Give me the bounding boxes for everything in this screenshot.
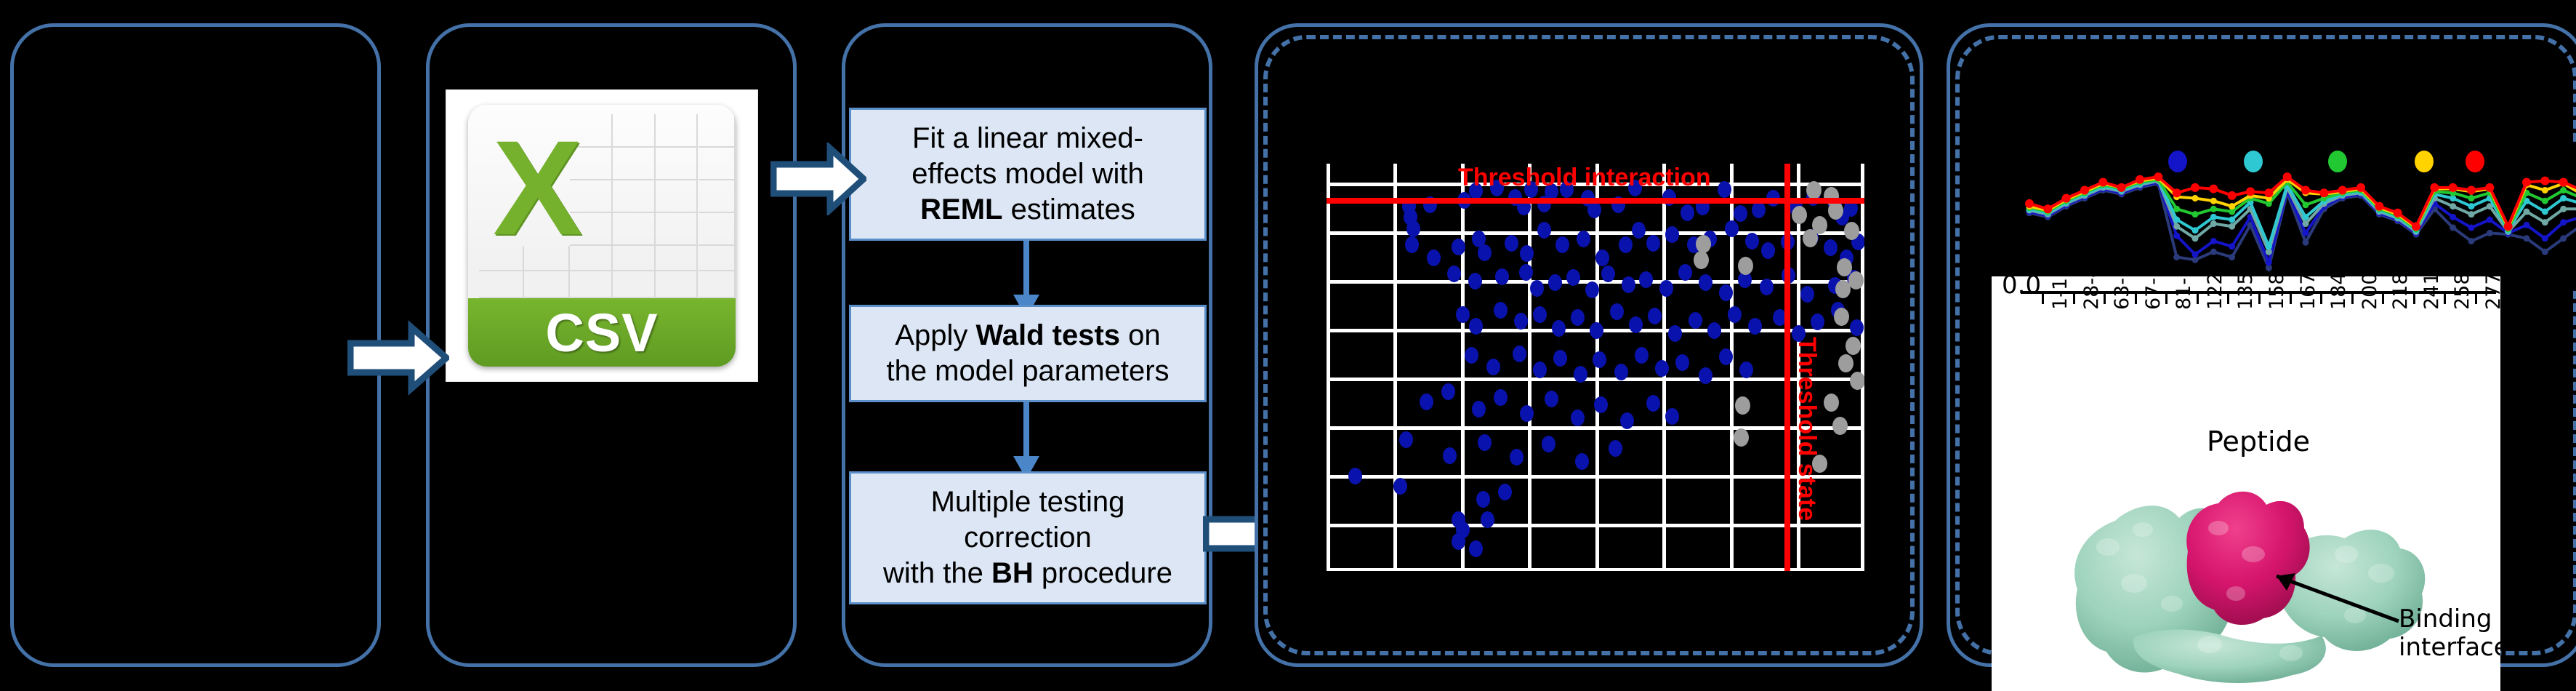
point-red-1 (2043, 204, 2052, 213)
step-bh-box: Multiple testing correction with the BH … (849, 471, 1207, 604)
point-yellow-28 (2542, 187, 2548, 193)
peptide-label-9: 184-199 (2327, 276, 2350, 310)
point-red-14 (2283, 172, 2292, 181)
point-blue-15 (2303, 230, 2309, 236)
step-reml-line1: Fit a linear mixed- (912, 122, 1143, 154)
point-green-28 (2542, 198, 2548, 204)
peptide-label-2: 63-73 (2111, 276, 2133, 310)
binding-line1: Binding (2399, 605, 2500, 634)
peptide-label-8: 167-180 (2297, 276, 2319, 310)
point-blue-29 (2560, 219, 2567, 225)
point-red-7 (2154, 172, 2162, 181)
point-blue-10 (2210, 238, 2217, 244)
legend-dot-state-4 (2415, 151, 2434, 172)
point-red-8 (2173, 188, 2181, 197)
point-red-13 (2264, 188, 2273, 197)
point-navy-28 (2542, 249, 2548, 255)
point-navy-25 (2487, 230, 2493, 236)
step-bh-line3-pre: with the (883, 557, 991, 589)
point-blue-28 (2542, 235, 2548, 241)
point-green-10 (2210, 206, 2217, 212)
point-navy-15 (2303, 239, 2309, 246)
point-red-29 (2559, 177, 2568, 186)
point-blue-11 (2229, 243, 2235, 249)
point-navy-11 (2229, 254, 2235, 260)
point-red-26 (2504, 222, 2513, 231)
peptide-tick-13 (2444, 292, 2446, 304)
point-red-27 (2522, 177, 2531, 186)
point-red-15 (2301, 186, 2310, 195)
step-wald-pre: Apply (895, 319, 975, 351)
point-cyan-9 (2192, 227, 2199, 233)
point-red-2 (2062, 194, 2071, 203)
peptide-label-4: 81-101 (2173, 276, 2195, 310)
point-green-29 (2560, 187, 2567, 193)
peptide-tick-6 (2227, 292, 2229, 304)
point-red-5 (2117, 183, 2126, 192)
peptide-tick-12 (2413, 292, 2415, 304)
point-teal-8 (2173, 223, 2180, 230)
input-panel (10, 23, 381, 667)
point-red-16 (2319, 188, 2328, 197)
peptide-label-0: 1-15 (2049, 276, 2072, 310)
legend-dot-state-3 (2328, 151, 2347, 172)
step-wald-line2: the model parameters (886, 355, 1169, 387)
point-navy-24 (2468, 238, 2475, 244)
legend-dot-state-1 (2168, 151, 2187, 172)
peptide-label-11: 218-237 (2389, 276, 2412, 310)
point-navy-27 (2524, 235, 2530, 241)
point-red-19 (2375, 202, 2383, 211)
step-wald-bold: Wald tests (976, 319, 1121, 351)
threshold-interaction-label: Threshold interaction (1458, 164, 1711, 192)
step-bh-bold: BH (991, 557, 1034, 589)
step-reml-line3: estimates (1003, 193, 1135, 225)
y-axis-zero-label: 0.0 (2002, 276, 2041, 300)
point-cyan-15 (2303, 214, 2309, 220)
point-blue-9 (2192, 251, 2199, 257)
point-teal-15 (2303, 220, 2309, 227)
point-navy-8 (2173, 254, 2180, 260)
peptide-label-6: 135-144 (2234, 276, 2257, 310)
peptide-tick-2 (2104, 292, 2106, 304)
binding-line2: interface (2399, 634, 2500, 662)
point-red-20 (2394, 209, 2402, 217)
point-red-28 (2540, 177, 2549, 185)
csv-format-label: CSV (545, 302, 658, 364)
point-cyan-8 (2173, 217, 2180, 223)
peptide-tick-5 (2197, 292, 2199, 304)
excel-x-letter: X (481, 115, 594, 262)
point-teal-23 (2450, 203, 2456, 209)
point-red-9 (2191, 183, 2199, 192)
peptide-label-12: 241-257 (2420, 276, 2443, 310)
point-teal-29 (2560, 206, 2567, 212)
point-green-24 (2468, 195, 2475, 201)
peptide-label-5: 122-129 (2204, 276, 2226, 310)
point-blue-25 (2487, 217, 2493, 223)
point-blue-13 (2266, 259, 2272, 265)
peptide-label-1: 28-44 (2080, 276, 2103, 310)
step-reml-line2: effects model with (911, 158, 1143, 190)
point-green-15 (2303, 201, 2309, 208)
point-cyan-24 (2468, 203, 2475, 209)
point-teal-11 (2229, 223, 2235, 230)
peptide-tick-7 (2258, 292, 2261, 304)
peptide-tick-4 (2165, 292, 2168, 304)
peptide-tick-10 (2351, 292, 2354, 304)
peptide-tick-11 (2382, 292, 2384, 304)
step-wald-box: Apply Wald tests on the model parameters (849, 305, 1207, 402)
peptide-line-chart (2016, 145, 2576, 291)
point-red-6 (2136, 175, 2144, 184)
point-yellow-10 (2210, 198, 2217, 204)
binding-interface-annotation: Binding interface (2399, 605, 2500, 662)
threshold-state-line (1784, 164, 1790, 571)
step-bh-line3-post: procedure (1034, 557, 1172, 589)
arrow-data-to-analysis (770, 143, 866, 215)
step-reml-box: Fit a linear mixed- effects model with R… (849, 108, 1207, 241)
point-teal-24 (2468, 211, 2475, 217)
point-red-18 (2356, 183, 2365, 192)
arrow-input-to-data (347, 320, 449, 396)
point-cyan-28 (2542, 208, 2548, 215)
step-bh-line2: correction (964, 522, 1092, 554)
point-teal-10 (2210, 220, 2217, 227)
point-navy-29 (2560, 235, 2567, 241)
point-yellow-9 (2192, 195, 2199, 201)
point-red-10 (2209, 185, 2218, 193)
line-chart-svg (2016, 145, 2576, 291)
point-teal-9 (2192, 235, 2199, 241)
point-blue-24 (2468, 225, 2475, 231)
step-bh-line1: Multiple testing (931, 486, 1125, 518)
point-navy-23 (2450, 225, 2456, 231)
peptide-axis-title: Peptide (2207, 426, 2310, 458)
point-red-3 (2080, 186, 2089, 195)
point-yellow-11 (2229, 203, 2235, 209)
peptide-tick-1 (2073, 292, 2075, 304)
point-green-8 (2173, 206, 2180, 212)
point-red-4 (2098, 177, 2107, 186)
point-green-9 (2192, 211, 2199, 217)
point-cyan-29 (2560, 195, 2567, 201)
peptide-tick-3 (2135, 292, 2137, 304)
point-blue-23 (2450, 214, 2456, 220)
step-reml-bold: REML (920, 193, 1002, 225)
csv-file-icon: X CSV (446, 90, 757, 381)
point-red-12 (2246, 187, 2255, 196)
peptide-label-3: 67-75 (2142, 276, 2165, 310)
point-red-0 (2025, 199, 2034, 208)
csv-format-band: CSV (468, 298, 736, 367)
peptide-label-10: 200-214 (2359, 276, 2381, 310)
peptide-tick-0 (2042, 292, 2044, 304)
point-navy-10 (2210, 249, 2217, 255)
point-red-25 (2485, 183, 2494, 192)
peptide-tick-9 (2320, 292, 2322, 304)
point-red-24 (2467, 186, 2476, 195)
point-red-22 (2430, 183, 2439, 192)
connector-wald-to-bh (1005, 402, 1048, 481)
point-blue-8 (2173, 233, 2180, 239)
point-cyan-11 (2229, 217, 2235, 223)
peptide-label-13: 258-266 (2451, 276, 2474, 310)
threshold-interaction-line (1327, 198, 1864, 204)
peptide-tick-14 (2475, 292, 2477, 304)
peptide-label-14: 277-284 (2482, 276, 2500, 310)
point-red-17 (2338, 186, 2347, 195)
point-teal-28 (2542, 219, 2548, 225)
legend-dot-state-2 (2244, 151, 2263, 172)
threshold-state-label: Threshold state (1792, 337, 1821, 521)
peptide-tick-8 (2290, 292, 2292, 304)
legend-dot-state-5 (2466, 151, 2484, 172)
peptide-axis-card: 0.0 1-1528-4463-7367-7581-101122-129135-… (1992, 276, 2500, 691)
point-red-21 (2412, 222, 2420, 231)
peptide-label-7: 158-166 (2266, 276, 2288, 310)
step-wald-post: on (1120, 319, 1161, 351)
point-teal-27 (2524, 208, 2530, 215)
interaction-scatter-plot (1327, 164, 1864, 571)
point-blue-27 (2524, 222, 2530, 228)
point-red-23 (2449, 183, 2458, 192)
point-cyan-10 (2210, 214, 2217, 220)
point-red-11 (2228, 191, 2237, 200)
point-cyan-13 (2266, 243, 2272, 249)
